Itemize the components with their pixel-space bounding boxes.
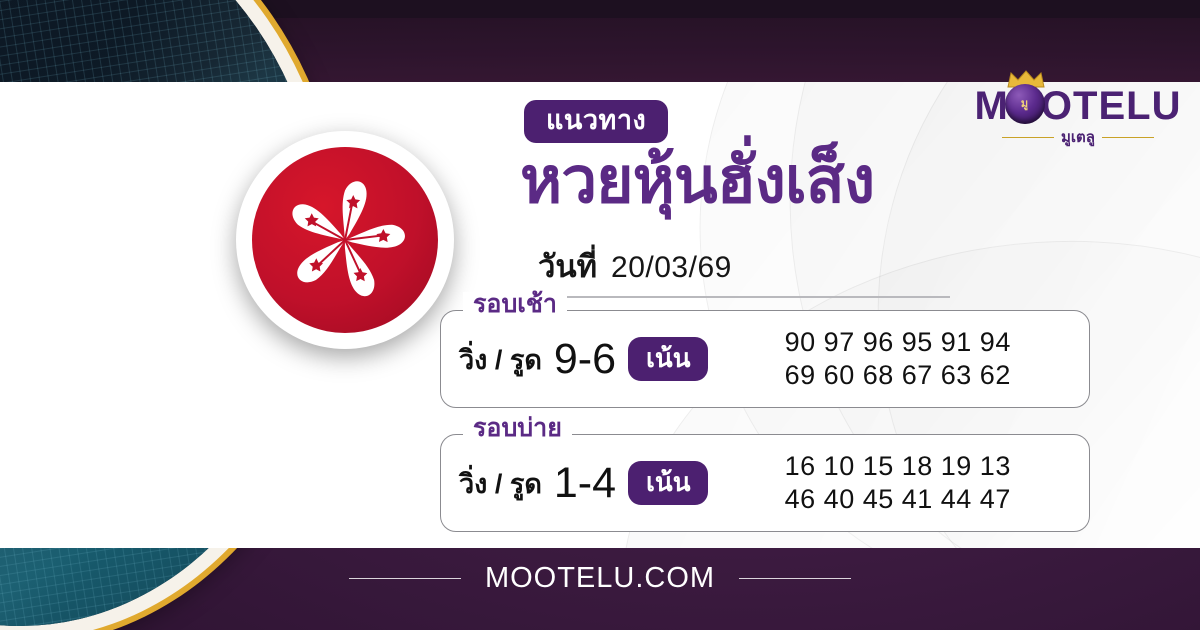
emphasis-badge-afternoon: เน้น xyxy=(628,461,708,505)
date-row: วันที่ 20/03/69 xyxy=(538,241,950,298)
hong-kong-flag xyxy=(252,147,438,333)
footer-site: MOOTELU.COM xyxy=(485,562,715,595)
footer-rule-left xyxy=(349,578,461,580)
round-row-afternoon: วิ่ง / รูด 1-4 เน้น 16 10 15 18 19 13 46… xyxy=(441,435,1089,531)
run-label-afternoon: วิ่ง / รูด xyxy=(459,462,542,505)
date-value: 20/03/69 xyxy=(611,251,732,285)
date-label: วันที่ xyxy=(538,241,597,291)
brand-rule-left xyxy=(1002,137,1054,138)
round-box-afternoon: รอบบ่าย วิ่ง / รูด 1-4 เน้น 16 10 15 18 … xyxy=(440,434,1090,532)
round-box-morning: รอบเช้า วิ่ง / รูด 9-6 เน้น 90 97 96 95 … xyxy=(440,310,1090,408)
numbers-morning-line1: 90 97 96 95 91 94 xyxy=(785,327,1011,357)
brand-logo[interactable]: MOOTELU มู มูเตลู xyxy=(972,86,1184,145)
round-legend-morning: รอบเช้า xyxy=(463,292,567,317)
run-label-morning: วิ่ง / รูด xyxy=(459,338,542,381)
brand-orb: มู xyxy=(1005,84,1045,124)
emphasis-badge-morning: เน้น xyxy=(628,337,708,381)
numbers-afternoon-line1: 16 10 15 18 19 13 xyxy=(785,451,1011,481)
numbers-morning: 90 97 96 95 91 94 69 60 68 67 63 62 xyxy=(720,326,1075,392)
brand-subtitle-row: มูเตลู xyxy=(972,130,1184,145)
numbers-afternoon-line2: 46 40 45 41 44 47 xyxy=(785,484,1011,514)
numbers-morning-line2: 69 60 68 67 63 62 xyxy=(785,360,1011,390)
round-legend-afternoon: รอบบ่าย xyxy=(463,416,572,441)
bauhinia-flower-icon xyxy=(270,165,420,315)
round-row-morning: วิ่ง / รูด 9-6 เน้น 90 97 96 95 91 94 69… xyxy=(441,311,1089,407)
footer: MOOTELU.COM xyxy=(0,562,1200,595)
hong-kong-flag-badge xyxy=(236,131,454,349)
run-digits-morning: 9-6 xyxy=(554,335,616,384)
brand-orb-text: มู xyxy=(1021,99,1029,110)
numbers-afternoon: 16 10 15 18 19 13 46 40 45 41 44 47 xyxy=(720,450,1075,516)
brand-rule-right xyxy=(1102,137,1154,138)
guide-badge: แนวทาง xyxy=(524,100,668,143)
run-digits-afternoon: 1-4 xyxy=(554,459,616,508)
page-title: หวยหุ้นฮั่งเส็ง xyxy=(520,148,874,213)
footer-rule-right xyxy=(739,578,851,580)
brand-wordmark: MOOTELU มู xyxy=(972,86,1184,126)
brand-subtitle: มูเตลู xyxy=(1061,130,1095,145)
poster-canvas: 2.81 8.37 7.78 12.40 0.99 9.08 17.21 1.3… xyxy=(0,0,1200,630)
